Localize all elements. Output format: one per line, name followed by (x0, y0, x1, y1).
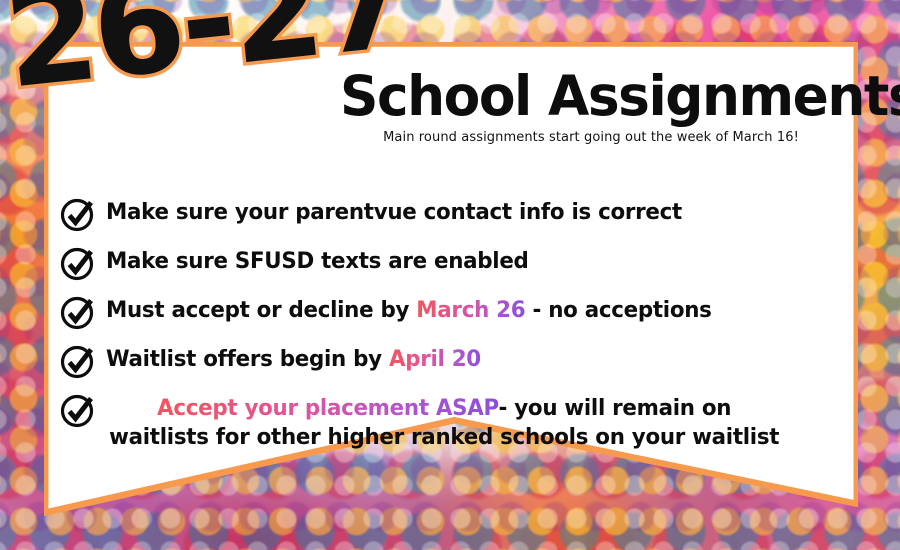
page-subtitle: Main round assignments start going out t… (340, 130, 860, 145)
circled-check-icon (58, 194, 98, 234)
checklist-item-text: Make sure SFUSD texts are enabled (106, 245, 529, 276)
checklist: Make sure your parentvue contact info is… (58, 196, 818, 464)
circled-check-icon (58, 341, 98, 381)
highlight-text: March 26 (416, 297, 525, 323)
checklist-item-text: Waitlist offers begin by April 20 (106, 343, 481, 374)
body-text: Waitlist offers begin by (106, 346, 389, 372)
checklist-item-text: Must accept or decline by March 26 - no … (106, 294, 712, 325)
circled-check-icon (58, 243, 98, 283)
body-text: Make sure SFUSD texts are enabled (106, 248, 529, 274)
checklist-item: Must accept or decline by March 26 - no … (58, 294, 818, 332)
checklist-item: Accept your placement ASAP- you will rem… (58, 392, 818, 453)
body-text: Must accept or decline by (106, 297, 416, 323)
circled-check-icon (58, 390, 98, 430)
poster-canvas: 26-27 School Assignments! Main round ass… (0, 0, 900, 550)
checklist-item: Make sure SFUSD texts are enabled (58, 245, 818, 283)
checklist-item: Make sure your parentvue contact info is… (58, 196, 818, 234)
checklist-item-text: Accept your placement ASAP- you will rem… (106, 392, 782, 453)
highlight-text: Accept your placement ASAP (157, 395, 498, 421)
highlight-text: April 20 (389, 346, 481, 372)
body-text: Make sure your parentvue contact info is… (106, 199, 682, 225)
checklist-item: Waitlist offers begin by April 20 (58, 343, 818, 381)
circled-check-icon (58, 292, 98, 332)
title-block: School Assignments! Main round assignmen… (340, 68, 860, 145)
checklist-item-text: Make sure your parentvue contact info is… (106, 196, 682, 227)
page-title: School Assignments! (340, 68, 844, 124)
body-text: - no acceptions (525, 297, 711, 323)
